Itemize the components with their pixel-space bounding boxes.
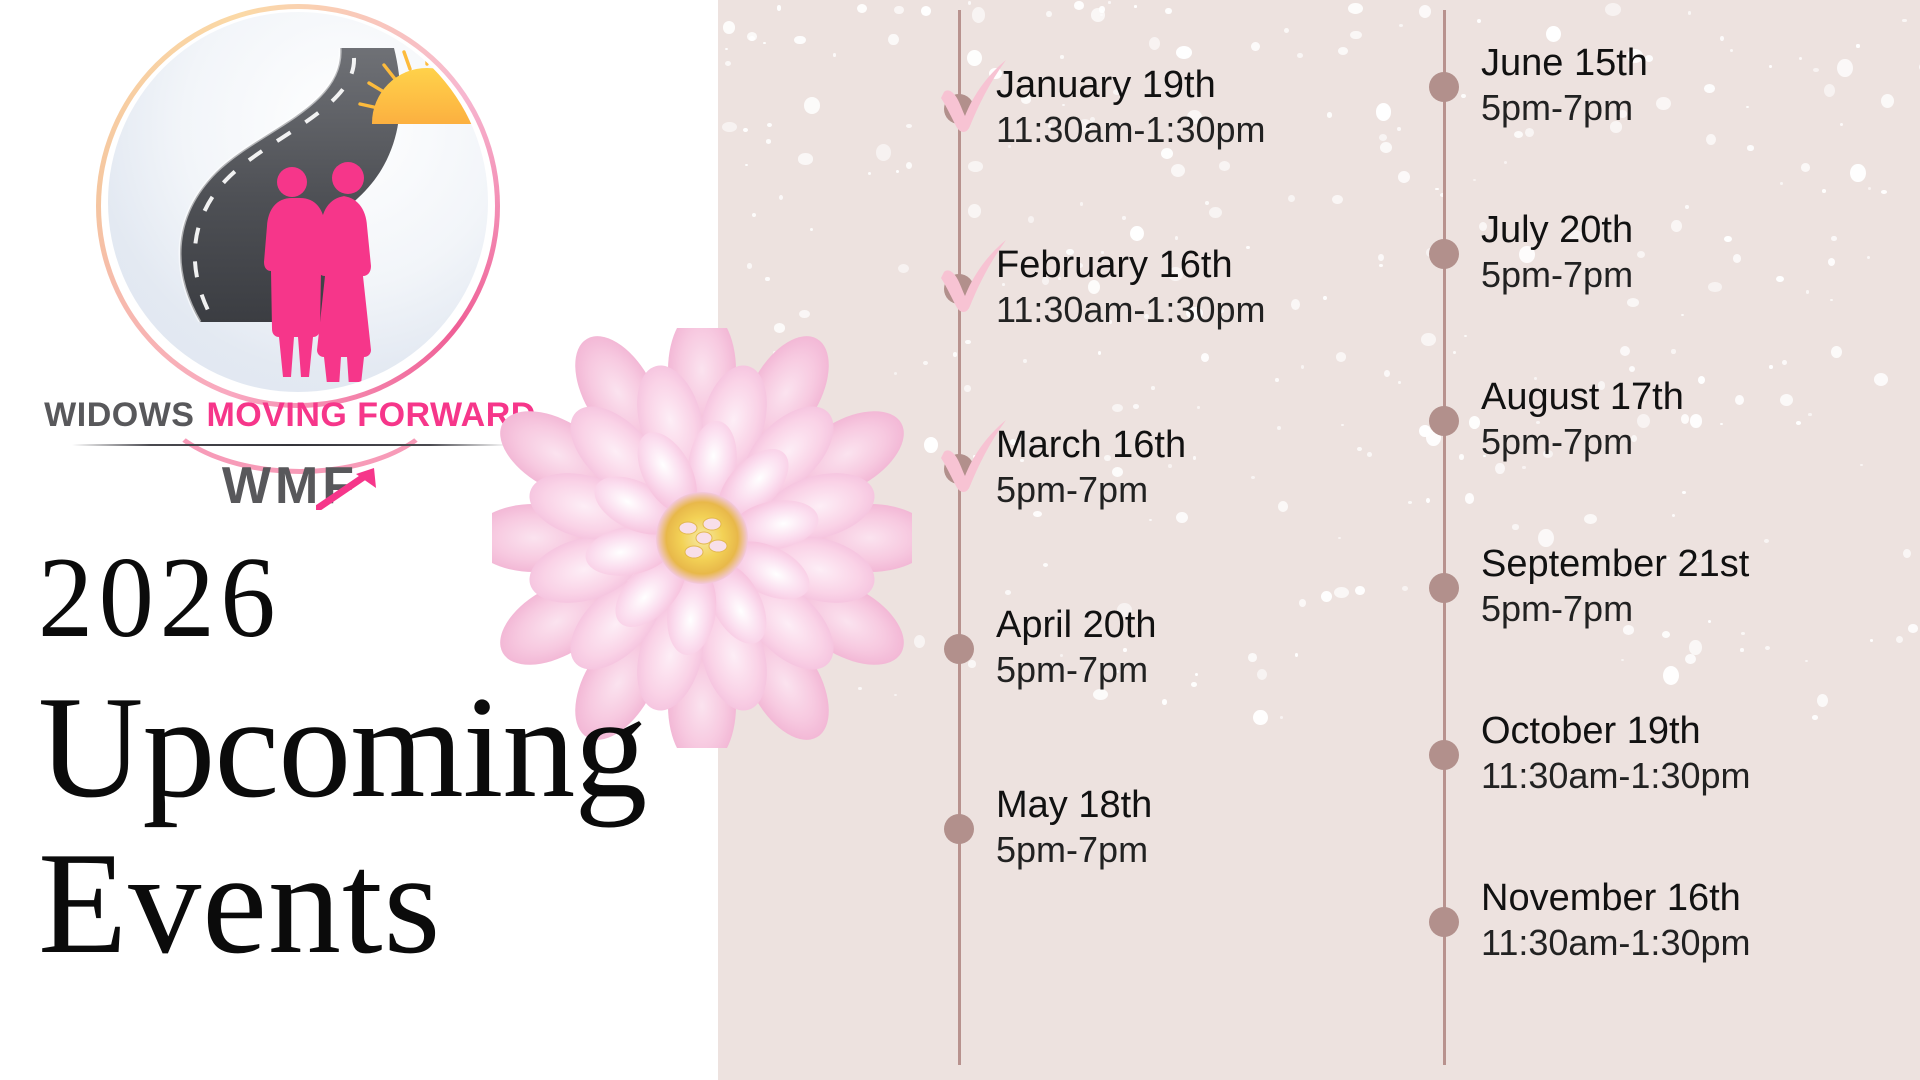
event-date: November 16th — [1481, 877, 1751, 920]
logo-inner-circle — [108, 12, 488, 392]
timeline-dot — [944, 94, 974, 124]
event-date: July 20th — [1481, 209, 1633, 252]
timeline-dot — [944, 454, 974, 484]
timeline-dot — [1429, 573, 1459, 603]
event-date: October 19th — [1481, 710, 1751, 753]
logo-word-widows: WIDOWS — [44, 396, 194, 434]
timeline-dot — [1429, 406, 1459, 436]
timeline-dot — [944, 274, 974, 304]
event-date: February 16th — [996, 244, 1266, 287]
event-date: April 20th — [996, 604, 1157, 647]
wmf-logo: WIDOWSMOVING FORWARD WMF — [30, 4, 550, 504]
page-title-block: 2026 Upcoming Events — [38, 540, 718, 980]
timeline-dot — [944, 634, 974, 664]
title-year: 2026 — [38, 540, 684, 656]
event-time: 5pm-7pm — [996, 649, 1157, 691]
event-time: 11:30am-1:30pm — [996, 289, 1266, 331]
event-time: 5pm-7pm — [1481, 421, 1684, 463]
event-time: 5pm-7pm — [996, 469, 1186, 511]
timeline-dot — [1429, 907, 1459, 937]
logo-word-moving-forward: MOVING FORWARD — [206, 396, 535, 434]
event-date: May 18th — [996, 784, 1152, 827]
event-date: March 16th — [996, 424, 1186, 467]
event-time: 5pm-7pm — [1481, 254, 1633, 296]
timeline-dot — [1429, 72, 1459, 102]
logo-abbreviation: WMF — [30, 456, 550, 516]
event-date: June 15th — [1481, 42, 1648, 85]
timeline-event-text: July 20th5pm-7pm — [1481, 209, 1633, 296]
logo-wordmark: WIDOWSMOVING FORWARD — [30, 396, 550, 435]
timeline-event-text: January 19th11:30am-1:30pm — [996, 64, 1266, 151]
timeline-event-text: February 16th11:30am-1:30pm — [996, 244, 1266, 331]
pink-arrow-icon — [316, 466, 380, 510]
event-time: 11:30am-1:30pm — [996, 109, 1266, 151]
event-date: January 19th — [996, 64, 1266, 107]
event-time: 11:30am-1:30pm — [1481, 922, 1751, 964]
timeline-dot — [1429, 740, 1459, 770]
timeline-dot — [1429, 239, 1459, 269]
timeline-event-text: October 19th11:30am-1:30pm — [1481, 710, 1751, 797]
timeline-axis-line — [958, 10, 961, 1065]
timeline-event-text: September 21st5pm-7pm — [1481, 543, 1749, 630]
event-time: 11:30am-1:30pm — [1481, 755, 1751, 797]
two-women-silhouette-icon — [248, 162, 398, 382]
timeline-event-text: April 20th5pm-7pm — [996, 604, 1157, 691]
event-time: 5pm-7pm — [1481, 87, 1648, 129]
timeline-event-text: June 15th5pm-7pm — [1481, 42, 1648, 129]
event-time: 5pm-7pm — [996, 829, 1152, 871]
event-time: 5pm-7pm — [1481, 588, 1749, 630]
timeline-event-text: November 16th11:30am-1:30pm — [1481, 877, 1751, 964]
poster-canvas: WIDOWSMOVING FORWARD WMF — [0, 0, 1920, 1080]
logo-divider-rule — [72, 444, 508, 446]
event-date: August 17th — [1481, 376, 1684, 419]
event-date: September 21st — [1481, 543, 1749, 586]
title-line-upcoming: Upcoming — [38, 672, 718, 824]
timeline-dot — [944, 814, 974, 844]
timeline-event-text: May 18th5pm-7pm — [996, 784, 1152, 871]
timeline-event-text: August 17th5pm-7pm — [1481, 376, 1684, 463]
timeline-event-text: March 16th5pm-7pm — [996, 424, 1186, 511]
title-line-events: Events — [38, 828, 718, 980]
